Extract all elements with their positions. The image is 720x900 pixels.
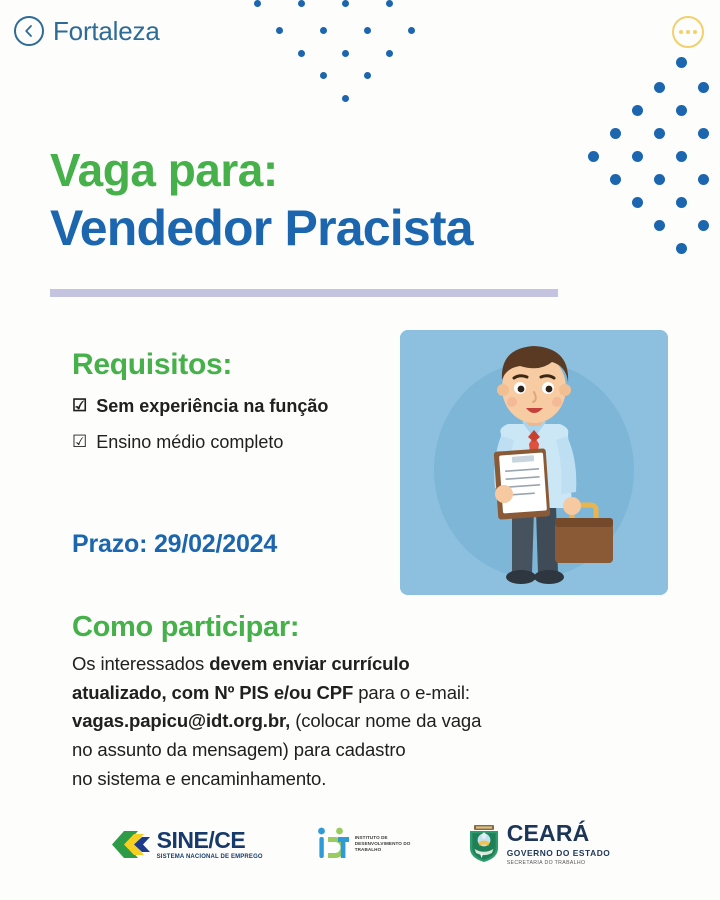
decorative-dot	[610, 128, 621, 139]
footer-logos: SINE/CE SISTEMA NACIONAL DE EMPREGO INST…	[0, 814, 720, 874]
idt-logo: INSTITUTO DE DESENVOLVIMENTO DO TRABALHO	[317, 827, 413, 861]
title-divider	[50, 289, 558, 297]
how-to-apply-section: Como participar: Os interessados devem e…	[72, 612, 652, 793]
decorative-dot	[320, 72, 327, 79]
how-to-apply-heading: Como participar:	[72, 612, 652, 644]
ceara-governo-logo: CEARÁ GOVERNO DO ESTADO SECRETARIA DO TR…	[467, 822, 611, 866]
apply-text-6: no assunto da mensagem) para cadastro	[72, 739, 406, 760]
ceara-logo-subtitle: GOVERNO DO ESTADO	[507, 848, 611, 858]
decorative-dot	[698, 128, 709, 139]
ceara-logo-title: CEARÁ	[507, 822, 611, 845]
sine-logo-subtitle: SISTEMA NACIONAL DE EMPREGO	[157, 854, 263, 860]
decorative-dot	[698, 174, 709, 185]
requirements-section: Requisitos: ☑ Sem experiência na função …	[72, 348, 402, 466]
decorative-dot	[632, 105, 643, 116]
decorative-dot	[676, 243, 687, 254]
checkbox-checked-icon: ☑	[72, 431, 87, 452]
apply-text-5: (colocar nome da vaga	[290, 710, 481, 731]
decorative-dot	[654, 128, 665, 139]
decorative-dot	[342, 95, 349, 102]
page-title: Fortaleza	[53, 16, 160, 47]
decorative-dot	[364, 72, 371, 79]
idt-logo-subtitle: INSTITUTO DE DESENVOLVIMENTO DO TRABALHO	[355, 835, 413, 854]
vaga-para-label: Vaga para:	[50, 146, 670, 194]
salesman-illustration	[400, 330, 668, 595]
sine-logo-title: SINE/CE	[157, 829, 263, 852]
chevron-left-icon	[22, 24, 36, 38]
requirements-list: ☑ Sem experiência na função ☑ Ensino méd…	[72, 395, 402, 453]
apply-text-1: Os interessados	[72, 653, 209, 674]
sine-ce-logo: SINE/CE SISTEMA NACIONAL DE EMPREGO	[110, 828, 263, 861]
decorative-dot	[698, 82, 709, 93]
decorative-dot	[676, 197, 687, 208]
list-item: ☑ Ensino médio completo	[72, 431, 402, 454]
salesman-illustration-graphic	[400, 330, 668, 595]
checkbox-checked-icon: ☑	[72, 395, 87, 416]
decorative-dot	[676, 105, 687, 116]
how-to-apply-body: Os interessados devem enviar currículo a…	[72, 650, 652, 793]
apply-text-2: devem enviar currículo	[209, 653, 409, 674]
decorative-dot	[676, 151, 687, 162]
requirement-text: Sem experiência na função	[96, 395, 328, 418]
requirement-text: Ensino médio completo	[96, 431, 283, 454]
list-item: ☑ Sem experiência na função	[72, 395, 402, 418]
deadline-text: Prazo: 29/02/2024	[72, 530, 277, 559]
idt-mark-icon	[317, 827, 351, 861]
apply-text-7: no sistema e encaminhamento.	[72, 768, 326, 789]
apply-email[interactable]: vagas.papicu@idt.org.br,	[72, 710, 290, 731]
apply-text-4: para o e-mail:	[353, 682, 470, 703]
app-header: Fortaleza	[0, 0, 720, 62]
decorative-dot	[698, 220, 709, 231]
apply-text-3: atualizado, com Nº PIS e/ou CPF	[72, 682, 353, 703]
back-chevron-circle-icon[interactable]	[14, 16, 44, 46]
decorative-dot	[654, 82, 665, 93]
ceara-logo-tertiary: SECRETARIA DO TRABALHO	[507, 860, 611, 866]
job-posting-page: Fortaleza Vaga para: Vendedor Pracista R…	[0, 0, 720, 900]
hero-title-block: Vaga para: Vendedor Pracista	[50, 146, 670, 256]
job-title: Vendedor Pracista	[50, 200, 670, 256]
ceara-coat-of-arms-icon	[467, 825, 501, 863]
requirements-heading: Requisitos:	[72, 348, 402, 381]
sine-brazil-arrow-icon	[110, 828, 154, 861]
